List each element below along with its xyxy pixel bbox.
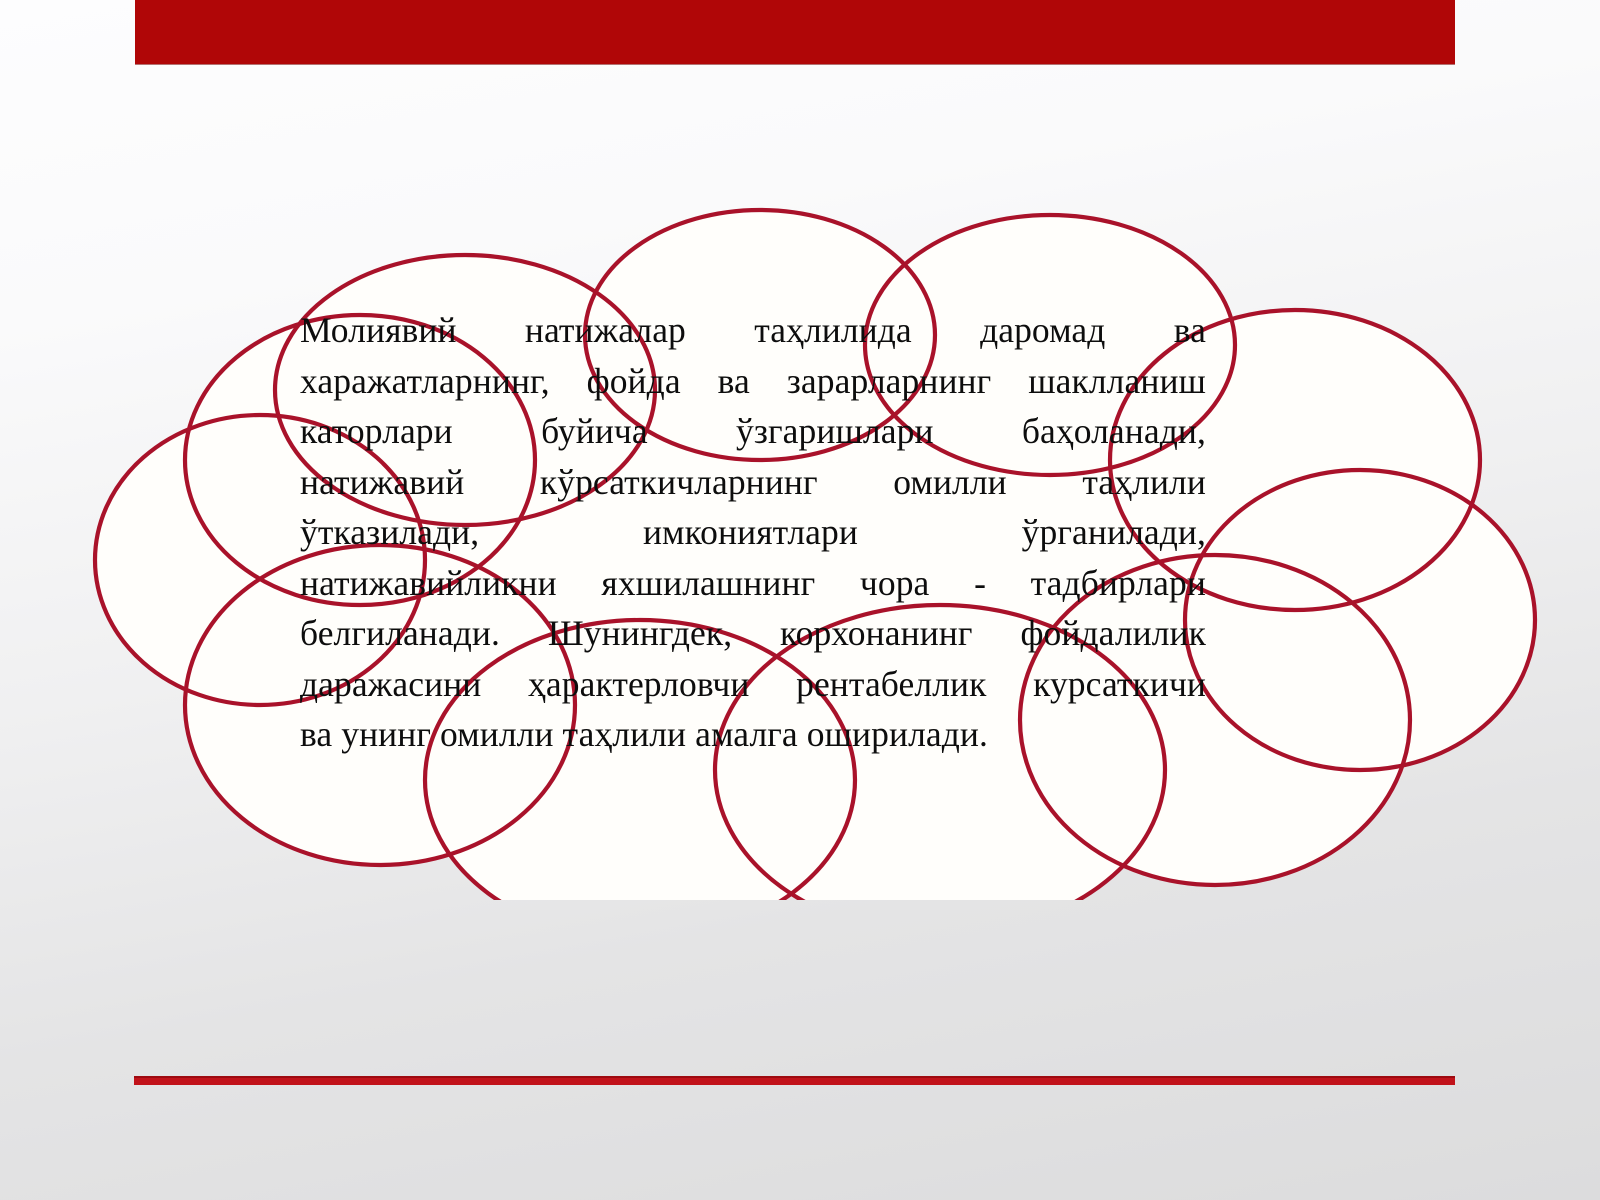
paragraph-word: имкониятлари: [643, 507, 858, 558]
paragraph-word: каторлари: [300, 406, 453, 457]
top-red-banner: [135, 0, 1455, 64]
paragraph-word: таҳлилида: [754, 305, 912, 356]
paragraph-word: -: [974, 558, 986, 609]
paragraph-word: шаклланиш: [1028, 356, 1206, 407]
paragraph-word: ўзгаришлари: [736, 406, 934, 457]
paragraph-word: омилли: [893, 457, 1007, 508]
paragraph-line: даражасиниҳарактерловчирентабелликкурсат…: [300, 659, 1206, 710]
cloud-callout: Молиявийнатижалартаҳлилидадаромадвахараж…: [60, 160, 1540, 900]
paragraph-word: даражасини: [300, 659, 481, 710]
paragraph-line: Молиявийнатижалартаҳлилидадаромадва: [300, 305, 1206, 356]
paragraph-word: натижалар: [525, 305, 686, 356]
paragraph-word: фойда: [587, 356, 681, 407]
paragraph-word: ва: [1174, 305, 1206, 356]
paragraph-word: ўрганилади,: [1022, 507, 1206, 558]
paragraph-word: даромад: [980, 305, 1105, 356]
paragraph-word: зарарларнинг: [787, 356, 992, 407]
paragraph-word: ўтказилади,: [300, 507, 479, 558]
paragraph-word: Шунингдек,: [548, 608, 732, 659]
paragraph-word: натижавийликни: [300, 558, 557, 609]
paragraph-line: ва унинг омилли таҳлили амалга оширилади…: [300, 709, 1206, 760]
paragraph-word: буйича: [541, 406, 648, 457]
paragraph-word: чора: [860, 558, 930, 609]
paragraph-line: каторларибуйичаўзгаришларибаҳоланади,: [300, 406, 1206, 457]
paragraph-word: кўрсаткичларнинг: [540, 457, 818, 508]
paragraph-word: тадбирлари: [1031, 558, 1206, 609]
paragraph-word: таҳлили: [1082, 457, 1206, 508]
paragraph-word: Молиявий: [300, 305, 457, 356]
paragraph-word: яхшилашнинг: [601, 558, 815, 609]
paragraph-word: рентабеллик: [796, 659, 986, 710]
paragraph-line: ўтказилади,имкониятлариўрганилади,: [300, 507, 1206, 558]
paragraph-word: ва: [718, 356, 750, 407]
paragraph-word: баҳоланади,: [1022, 406, 1206, 457]
callout-paragraph: Молиявийнатижалартаҳлилидадаромадвахараж…: [300, 305, 1206, 760]
paragraph-word: курсаткичи: [1033, 659, 1206, 710]
paragraph-word: белгиланади.: [300, 608, 500, 659]
paragraph-line: харажатларнинг,фойдавазарарларнингшаклла…: [300, 356, 1206, 407]
paragraph-word: харажатларнинг,: [300, 356, 550, 407]
paragraph-line: натижавийкўрсаткичларнингомиллитаҳлили: [300, 457, 1206, 508]
slide-canvas: Молиявийнатижалартаҳлилидадаромадвахараж…: [0, 0, 1600, 1200]
paragraph-word: фойдалилик: [1020, 608, 1206, 659]
paragraph-line: белгиланади.Шунингдек,корхонанингфойдали…: [300, 608, 1206, 659]
paragraph-word: ҳарактерловчи: [528, 659, 749, 710]
paragraph-line: натижавийликнияхшилашнингчора-тадбирлари: [300, 558, 1206, 609]
bottom-red-rule: [134, 1076, 1455, 1085]
paragraph-word: натижавий: [300, 457, 464, 508]
paragraph-word: корхонанинг: [780, 608, 973, 659]
